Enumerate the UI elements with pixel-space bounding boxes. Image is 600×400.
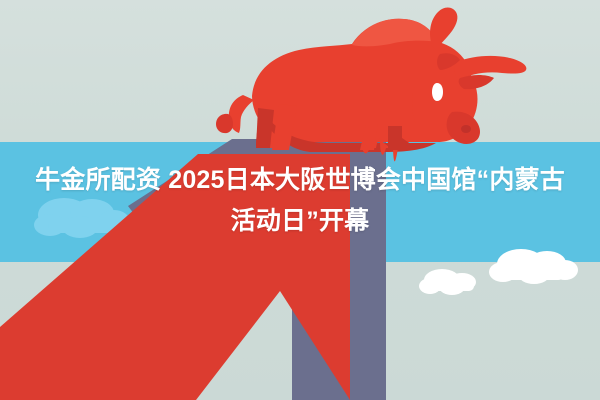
headline-line-1: 牛金所配资 2025日本大阪世博会中国馆“内蒙古 bbox=[35, 166, 565, 194]
headline-line-2: 活动日”开幕 bbox=[231, 207, 370, 235]
red-bull-mascot bbox=[216, 8, 526, 162]
page-title: 牛金所配资 2025日本大阪世博会中国馆“内蒙古活动日”开幕 bbox=[0, 160, 600, 242]
bull-eye bbox=[432, 83, 443, 101]
banner-image: 牛金所配资 2025日本大阪世博会中国馆“内蒙古活动日”开幕 bbox=[0, 0, 600, 400]
